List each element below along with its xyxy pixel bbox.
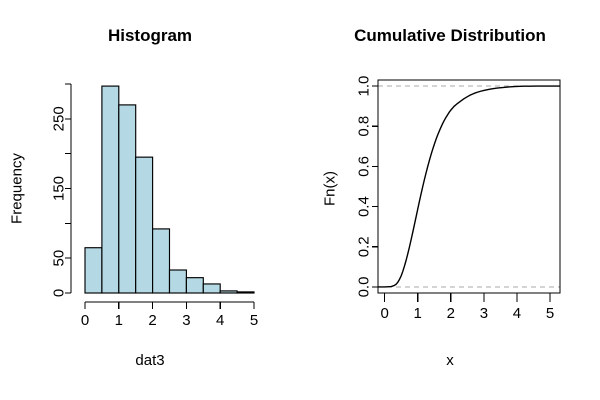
histogram-x-tick-label: 4 [216,312,224,329]
cdf-y-tick-label: 1.0 [356,76,373,97]
histogram-y-tick-label: 150 [51,176,68,201]
histogram-x-tick-label: 0 [81,312,89,329]
histogram-x-tick-label: 3 [182,312,190,329]
cdf-x-tick-label: 5 [546,305,554,322]
cdf-y-tick-label: 0.4 [356,196,373,217]
cdf-x-tick-label: 4 [513,305,521,322]
cdf-y-tick-label: 0.8 [356,116,373,137]
cdf-x-tick-label: 3 [480,305,488,322]
histogram-bar [203,284,220,293]
r-plot-figure: Histogram Frequency 050150250012345 dat3… [0,0,600,400]
histogram-bar [186,278,203,293]
cdf-y-tick-label: 0.2 [356,236,373,257]
cdf-x-tick-label: 0 [380,305,388,322]
histogram-plot-area: 050150250012345 [0,0,300,400]
histogram-bar [102,86,119,293]
cdf-y-tick-label: 0.0 [356,277,373,298]
histogram-bar [220,291,237,293]
histogram-bar [136,157,153,293]
cdf-x-tick-label: 1 [414,305,422,322]
cdf-x-axis-label: x [300,352,600,369]
histogram-panel: Histogram Frequency 050150250012345 dat3 [0,0,300,400]
cumulative-distribution-panel: Cumulative Distribution Fn(x) 0.00.20.40… [300,0,600,400]
histogram-y-tick-label: 50 [51,250,68,267]
histogram-y-tick-label: 250 [51,106,68,131]
cdf-x-tick-label: 2 [447,305,455,322]
histogram-bar [153,229,170,293]
histogram-bar [85,248,102,293]
histogram-x-axis-label: dat3 [0,352,300,369]
histogram-y-tick-label: 0 [51,289,68,297]
cdf-curve [378,86,560,287]
histogram-x-tick-label: 5 [250,312,258,329]
histogram-x-tick-label: 2 [148,312,156,329]
cdf-plot-area: 0.00.20.40.60.81.0012345 [300,0,600,400]
histogram-bar [119,105,136,293]
histogram-bar [170,270,187,293]
cdf-y-tick-label: 0.6 [356,156,373,177]
histogram-x-tick-label: 1 [115,312,123,329]
histogram-bar [237,292,254,293]
